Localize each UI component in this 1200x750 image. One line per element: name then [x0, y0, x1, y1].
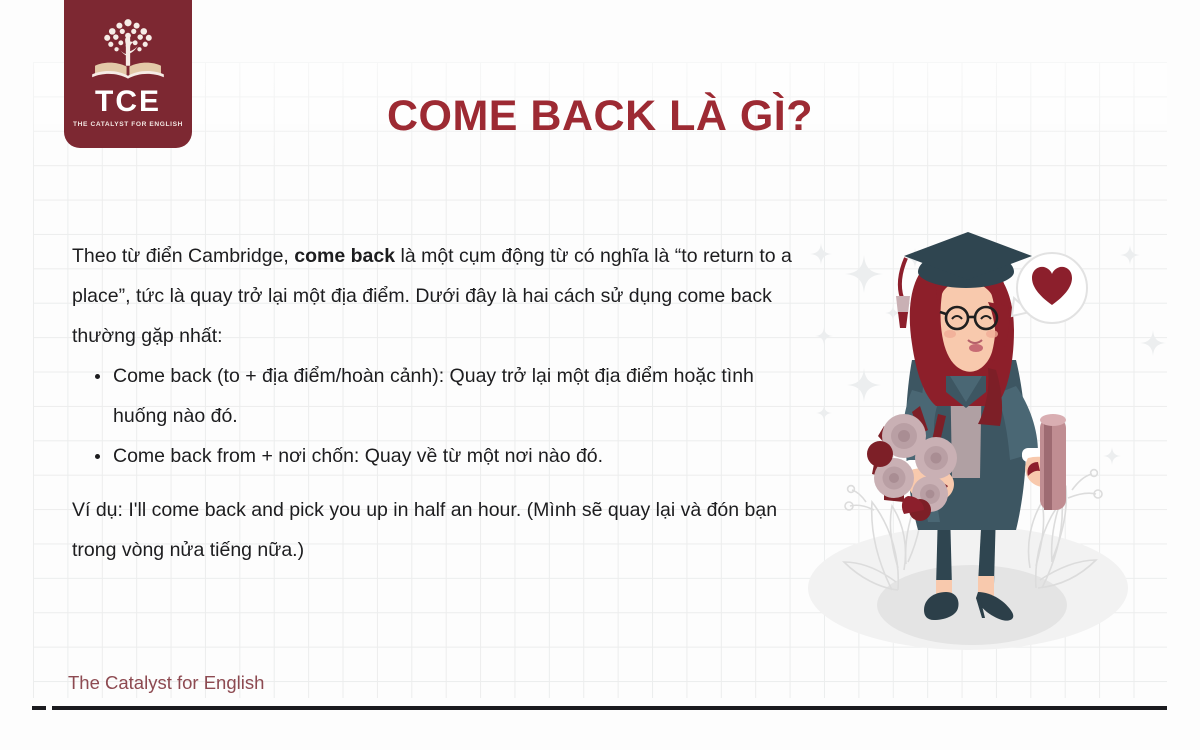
slide-canvas: TCE THE CATALYST FOR ENGLISH COME BACK L… — [0, 0, 1200, 750]
intro-text-before: Theo từ điển Cambridge, — [72, 245, 294, 267]
graduate-illustration — [800, 210, 1130, 660]
intro-paragraph: Theo từ điển Cambridge, come back là một… — [72, 236, 792, 356]
logo-tagline: THE CATALYST FOR ENGLISH — [73, 121, 183, 128]
sparkle-icon — [1140, 330, 1166, 361]
logo-initials: TCE — [95, 87, 161, 117]
content-body: Theo từ điển Cambridge, come back là một… — [72, 236, 792, 570]
list-item: Come back (to + địa điểm/hoàn cảnh): Qua… — [93, 356, 792, 436]
footer-brand-text: The Catalyst for English — [68, 672, 264, 694]
brand-logo-badge: TCE THE CATALYST FOR ENGLISH — [64, 0, 192, 148]
footer-dash — [32, 706, 46, 710]
intro-bold-term: come back — [294, 245, 395, 267]
footer-rule — [52, 706, 1167, 710]
list-item: Come back from + nơi chốn: Quay về từ mộ… — [93, 436, 792, 476]
usage-list: Come back (to + địa điểm/hoàn cảnh): Qua… — [72, 356, 792, 476]
tree-on-open-book-icon — [85, 14, 171, 86]
page-title: COME BACK LÀ GÌ? — [230, 92, 970, 141]
example-paragraph: Ví dụ: I'll come back and pick you up in… — [72, 490, 792, 570]
